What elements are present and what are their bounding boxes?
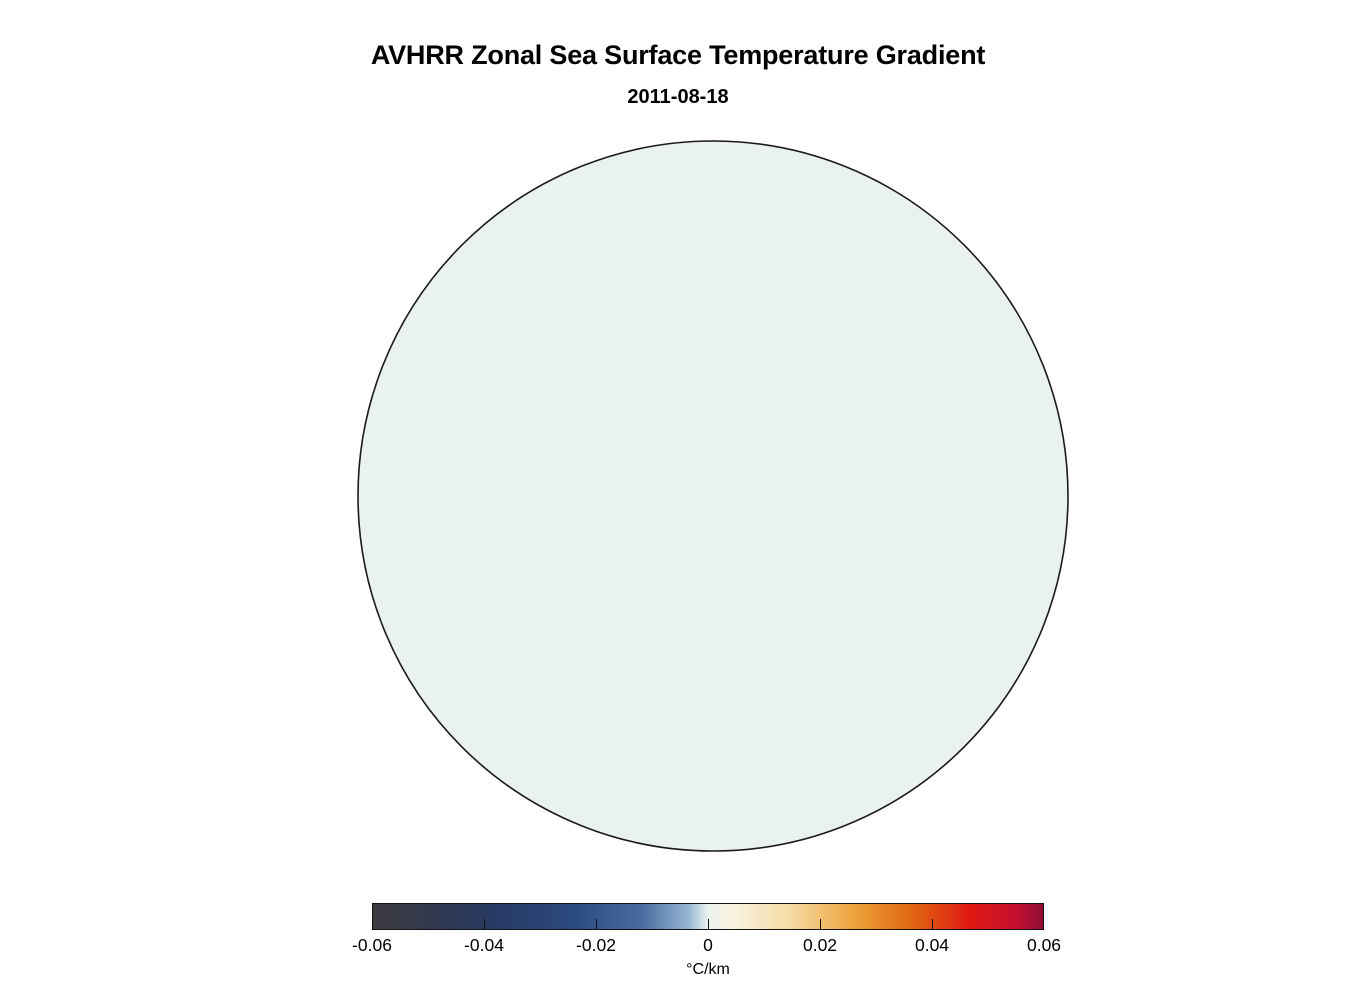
colorbar-tick-label: 0.06: [999, 935, 1089, 956]
polar-stereographic-map: [348, 128, 1078, 868]
colorbar-tick-label: -0.06: [327, 935, 417, 956]
map-data-layer: [358, 141, 1068, 851]
colorbar-tick: [1043, 919, 1044, 930]
polar-map-axes: [348, 128, 1078, 868]
colorbar-tick: [708, 919, 709, 930]
colorbar-tick: [372, 919, 373, 930]
colorbar-tick-label: -0.04: [439, 935, 529, 956]
page-title: AVHRR Zonal Sea Surface Temperature Grad…: [0, 40, 1356, 71]
colorbar-tick-label: 0.02: [775, 935, 865, 956]
colorbar-tick-label: -0.02: [551, 935, 641, 956]
colorbar-tick-label: 0: [663, 935, 753, 956]
colorbar-tick: [820, 919, 821, 930]
colorbar-tick: [484, 919, 485, 930]
colorbar-tick-label: 0.04: [887, 935, 977, 956]
colorbar: -0.06-0.04-0.0200.020.040.06 °C/km: [372, 903, 1044, 993]
ocean-background: [358, 141, 1068, 851]
colorbar-unit-label: °C/km: [372, 961, 1044, 979]
colorbar-tick: [596, 919, 597, 930]
colorbar-tick: [932, 919, 933, 930]
figure-subtitle-date: 2011-08-18: [0, 86, 1356, 109]
